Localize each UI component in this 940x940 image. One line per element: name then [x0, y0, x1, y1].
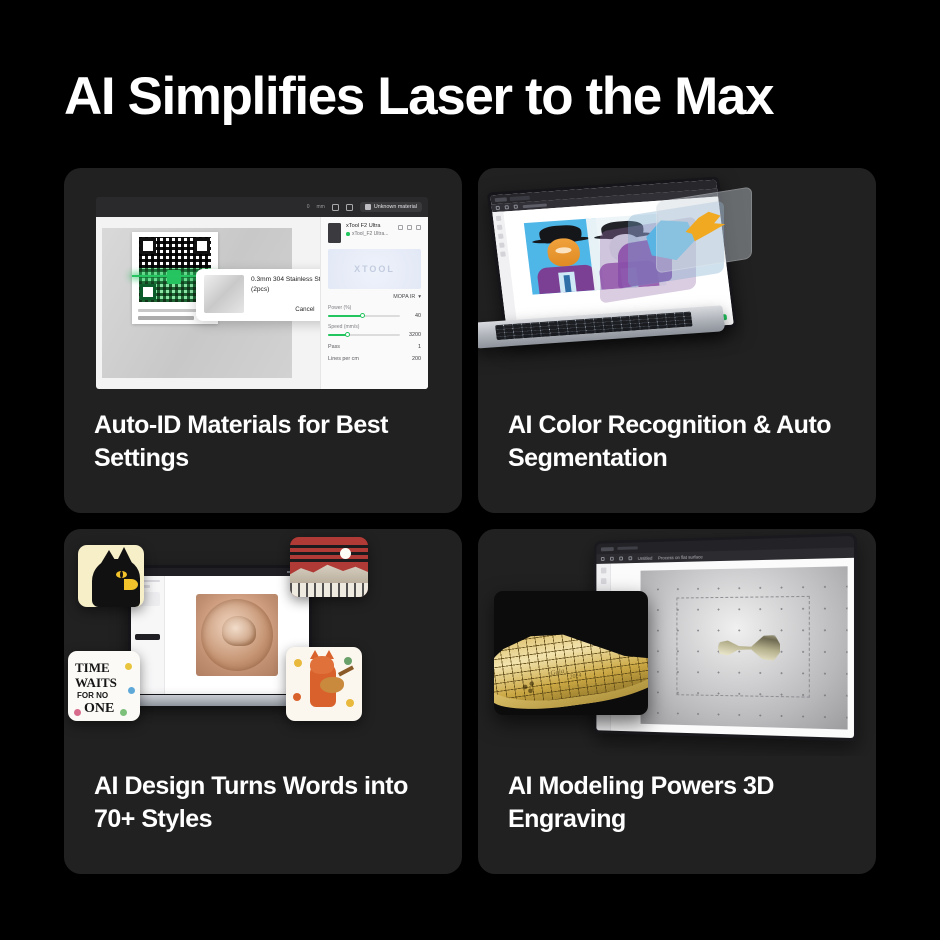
- speed-label: Speed (mm/s): [328, 324, 421, 330]
- app-logo-icon: [601, 547, 614, 551]
- laser-software-window: 0 mm Unknown material: [96, 197, 428, 389]
- feature-card-grid: 0 mm Unknown material: [64, 168, 876, 874]
- eagle-relief-artwork: [196, 594, 278, 676]
- feature-card-auto-id-materials[interactable]: 0 mm Unknown material: [64, 168, 462, 513]
- curved-surface-preview: Gala 2024: [494, 591, 648, 715]
- card-media-3d-engraving: Untitled Process on flat surface: [478, 529, 876, 756]
- cancel-button[interactable]: Cancel: [295, 306, 314, 313]
- camera-icon[interactable]: [346, 204, 353, 211]
- promo-page: AI Simplifies Laser to the Max 0 mm Unkn…: [0, 0, 940, 940]
- sticker-black-cat: [78, 545, 144, 607]
- lines-per-cm-value: 200: [412, 356, 421, 362]
- window-titlebar: [131, 568, 309, 576]
- parameter-pass[interactable]: Pass 1: [328, 344, 421, 350]
- feature-card-ai-design-styles[interactable]: TIME WAITS FOR NO ONE: [64, 529, 462, 874]
- redo-icon[interactable]: [628, 556, 632, 560]
- material-label: Unknown material: [374, 204, 417, 210]
- laser-mode-label: MOPA IR: [393, 294, 415, 300]
- sticker-red-landscape: [290, 537, 368, 597]
- floral-engraving-icon: [518, 678, 543, 698]
- card-title-ai-design-styles: AI Design Turns Words into 70+ Styles: [64, 756, 462, 836]
- gear-icon[interactable]: [407, 225, 412, 230]
- power-label: Power (%): [328, 305, 421, 311]
- toolbar-unit: mm: [317, 204, 325, 210]
- device-status: xTool_F2 Ultra...: [346, 231, 393, 237]
- parameter-power[interactable]: Power (%) 40: [328, 305, 421, 319]
- device-name: xTool F2 Ultra: [346, 223, 393, 229]
- parameter-lines-per-cm[interactable]: Lines per cm 200: [328, 356, 421, 362]
- qr-finder-icon: [140, 284, 156, 300]
- qr-finder-icon: [140, 238, 156, 254]
- warning-icon[interactable]: [332, 204, 339, 211]
- qr-logo-badge-icon: [167, 270, 181, 284]
- lettering-line-1: TIME: [75, 660, 110, 676]
- toolbar-label: [523, 203, 547, 208]
- feature-card-ai-color-recognition[interactable]: AI Color Recognition & Auto Segmentation: [478, 168, 876, 513]
- speed-value: 3200: [405, 332, 421, 338]
- design-preview: XTOOL: [328, 249, 421, 289]
- parameter-speed[interactable]: Speed (mm/s) 3200: [328, 324, 421, 338]
- software-toolbar: 0 mm Unknown material: [96, 197, 428, 217]
- device-status-label: xTool_F2 Ultra...: [352, 231, 388, 237]
- layers-tool-icon[interactable]: [500, 251, 506, 256]
- copy-icon[interactable]: [416, 225, 421, 230]
- qr-subcaption-line: [138, 316, 194, 320]
- card-media-color-separation: [478, 168, 876, 395]
- material-thumbnail: [204, 275, 244, 313]
- lines-per-cm-label: Lines per cm: [328, 356, 359, 362]
- card-media-design-styles: TIME WAITS FOR NO ONE: [64, 529, 462, 756]
- lettering-line-2: WAITS: [75, 675, 117, 691]
- undo-icon[interactable]: [610, 557, 614, 561]
- select-tool-icon[interactable]: [496, 216, 502, 221]
- tiger-face-shape: [546, 237, 581, 267]
- card-media-laser-software: 0 mm Unknown material: [64, 168, 462, 395]
- status-dot-icon: [346, 232, 350, 236]
- laser-mode-select[interactable]: MOPA IR ▾: [328, 294, 421, 300]
- design-software-window: [131, 568, 309, 694]
- feature-card-ai-modeling-3d[interactable]: Untitled Process on flat surface: [478, 529, 876, 874]
- device-thumbnail-icon: [328, 223, 341, 243]
- speed-slider[interactable]: [328, 334, 400, 336]
- sticker-fox-with-guitar: [286, 647, 362, 721]
- image-tool-icon[interactable]: [600, 568, 605, 574]
- shapes-icon[interactable]: [505, 205, 509, 209]
- lettering-line-3: FOR NO: [77, 691, 108, 700]
- pass-label: Pass: [328, 344, 340, 350]
- shape-tool-icon[interactable]: [499, 243, 505, 248]
- pass-value: 1: [418, 344, 421, 350]
- app-logo-icon: [495, 197, 507, 202]
- settings-panel: xTool F2 Ultra xTool_F2 Ultra...: [320, 217, 428, 389]
- card-title-ai-modeling-3d: AI Modeling Powers 3D Engraving: [478, 756, 876, 836]
- qr-finder-icon: [194, 238, 210, 254]
- color-layer-orange: [656, 186, 752, 273]
- process-mode-label: Process on flat surface: [658, 554, 703, 560]
- model-tool-icon[interactable]: [600, 578, 605, 584]
- file-name: Untitled: [638, 555, 653, 560]
- app-tab[interactable]: [510, 195, 530, 200]
- generate-button[interactable]: [135, 634, 160, 640]
- device-row[interactable]: xTool F2 Ultra xTool_F2 Ultra...: [328, 223, 421, 243]
- toolbar-value: 0: [307, 204, 310, 210]
- engraving-grid-preview: [641, 566, 848, 729]
- pen-tool-icon[interactable]: [497, 225, 503, 230]
- page-title: AI Simplifies Laser to the Max: [64, 68, 884, 125]
- select-icon[interactable]: [601, 557, 605, 561]
- material-swatch-icon: [365, 204, 371, 210]
- text-tool-icon[interactable]: [498, 234, 504, 239]
- file-tab[interactable]: [617, 546, 637, 549]
- material-selector[interactable]: Unknown material: [360, 202, 422, 212]
- sticker-time-waits-lettering: TIME WAITS FOR NO ONE: [68, 651, 140, 721]
- card-title-auto-id-materials: Auto-ID Materials for Best Settings: [64, 395, 462, 475]
- power-slider[interactable]: [328, 315, 400, 317]
- edit-icon[interactable]: [398, 225, 403, 230]
- power-value: 40: [405, 313, 421, 319]
- lettering-line-4: ONE: [84, 701, 114, 717]
- moon-icon: [340, 548, 351, 559]
- chevron-down-icon: ▾: [418, 294, 421, 300]
- image-icon[interactable]: [514, 205, 518, 209]
- cursor-icon[interactable]: [496, 206, 500, 210]
- card-title-ai-color-recognition: AI Color Recognition & Auto Segmentation: [478, 395, 876, 475]
- home-icon[interactable]: [619, 557, 623, 561]
- laptop-device: [128, 565, 312, 697]
- software-canvas: 0.3mm 304 Stainless Steel Sheet (2pcs) C…: [96, 217, 428, 389]
